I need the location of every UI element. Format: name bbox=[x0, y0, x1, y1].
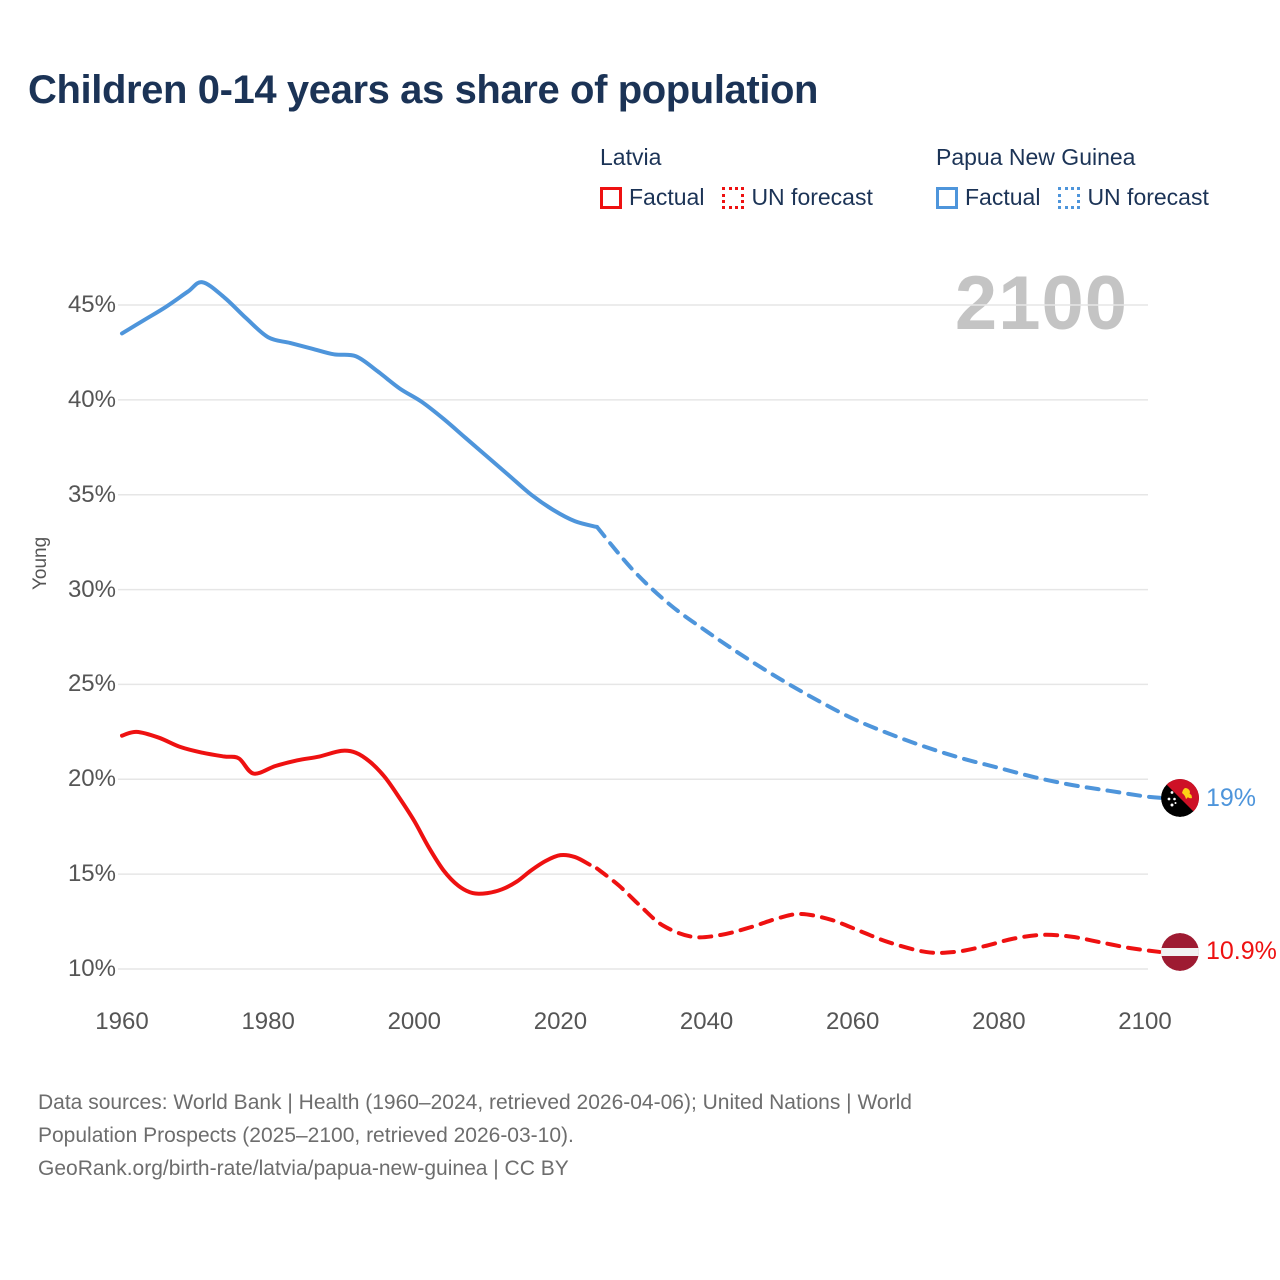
y-axis-tick-label: 25% bbox=[68, 670, 116, 698]
footer-sources: Data sources: World Bank | Health (1960–… bbox=[38, 1086, 1238, 1185]
x-axis-tick-label: 2060 bbox=[826, 1008, 879, 1036]
flag-icon-latvia bbox=[1161, 933, 1199, 971]
y-axis-tick-label: 10% bbox=[68, 955, 116, 983]
y-axis-tick-label: 20% bbox=[68, 765, 116, 793]
footer-line-3: GeoRank.org/birth-rate/latvia/papua-new-… bbox=[38, 1152, 1238, 1185]
y-axis-tick-label: 15% bbox=[68, 860, 116, 888]
y-axis-tick-label: 35% bbox=[68, 481, 116, 509]
x-axis-tick-label: 2080 bbox=[972, 1008, 1025, 1036]
chart-page: Children 0-14 years as share of populati… bbox=[0, 0, 1280, 1280]
flag-icon-papua-new-guinea bbox=[1161, 779, 1199, 817]
endpoint-marker-latvia[interactable]: 10.9% bbox=[1161, 933, 1277, 971]
endpoint-marker-papua-new-guinea[interactable]: 19% bbox=[1161, 779, 1256, 817]
x-axis-tick-label: 2000 bbox=[388, 1008, 441, 1036]
series-line-factual-papua-new-guinea bbox=[122, 282, 597, 527]
x-axis-tick-label: 2040 bbox=[680, 1008, 733, 1036]
series-line-forecast-latvia bbox=[597, 868, 1160, 952]
y-axis-tick-label: 30% bbox=[68, 576, 116, 604]
x-axis-tick-label: 1960 bbox=[95, 1008, 148, 1036]
footer-line-2: Population Prospects (2025–2100, retriev… bbox=[38, 1119, 1238, 1152]
x-axis-tick-label: 2100 bbox=[1118, 1008, 1171, 1036]
endpoint-value-label: 10.9% bbox=[1206, 937, 1277, 966]
series-line-forecast-papua-new-guinea bbox=[597, 527, 1167, 798]
y-axis-tick-label: 45% bbox=[68, 291, 116, 319]
series-line-factual-latvia bbox=[122, 732, 590, 894]
x-axis-tick-label: 2020 bbox=[534, 1008, 587, 1036]
footer-line-1: Data sources: World Bank | Health (1960–… bbox=[38, 1086, 1238, 1119]
x-axis-tick-label: 1980 bbox=[241, 1008, 294, 1036]
endpoint-value-label: 19% bbox=[1206, 784, 1256, 813]
y-axis-tick-label: 40% bbox=[68, 386, 116, 414]
